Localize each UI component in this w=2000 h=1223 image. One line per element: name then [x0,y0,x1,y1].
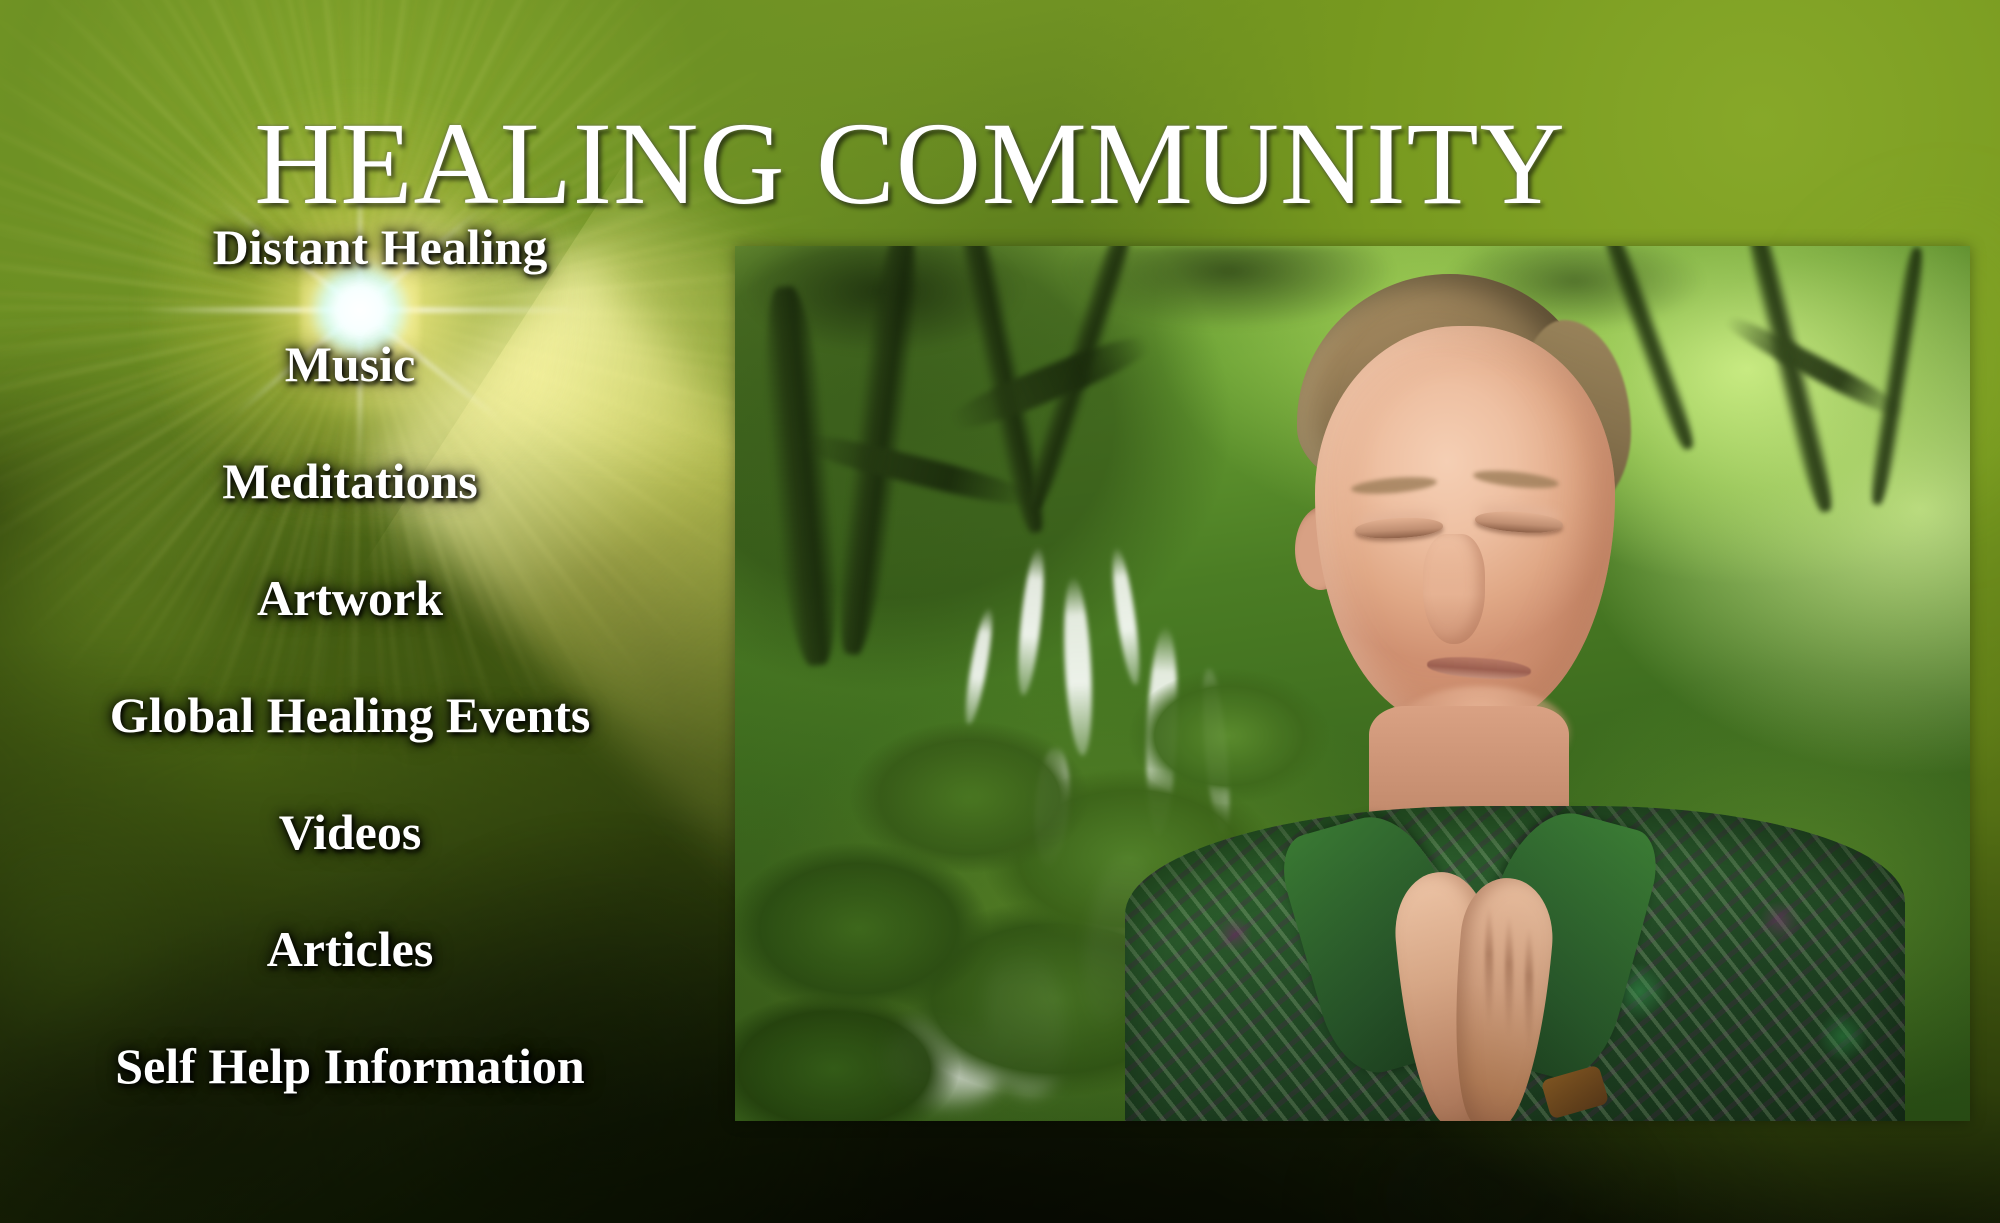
nav-item-self-help-information[interactable]: Self Help Information [0,1041,700,1158]
finger-crease-3 [1525,928,1533,1048]
page-title: HEALING COMMUNITY [0,99,2000,229]
nav-item-videos[interactable]: Videos [0,807,700,924]
healing-community-page: HEALING COMMUNITY Distant Healing Music … [0,0,2000,1223]
finger-crease-2 [1505,916,1513,1036]
nose [1423,534,1485,644]
main-navigation: Distant Healing Music Meditations Artwor… [0,222,700,1158]
nav-item-music[interactable]: Music [0,339,700,456]
nav-item-meditations[interactable]: Meditations [0,456,700,573]
praying-hands [1393,872,1553,1121]
nav-item-distant-healing[interactable]: Distant Healing [0,222,730,339]
nav-item-articles[interactable]: Articles [0,924,700,1041]
nav-item-artwork[interactable]: Artwork [0,573,700,690]
nav-item-global-healing-events[interactable]: Global Healing Events [0,690,700,807]
person-portrait [1155,266,1855,1121]
hero-image[interactable] [735,246,1970,1121]
finger-crease-1 [1485,906,1493,1026]
